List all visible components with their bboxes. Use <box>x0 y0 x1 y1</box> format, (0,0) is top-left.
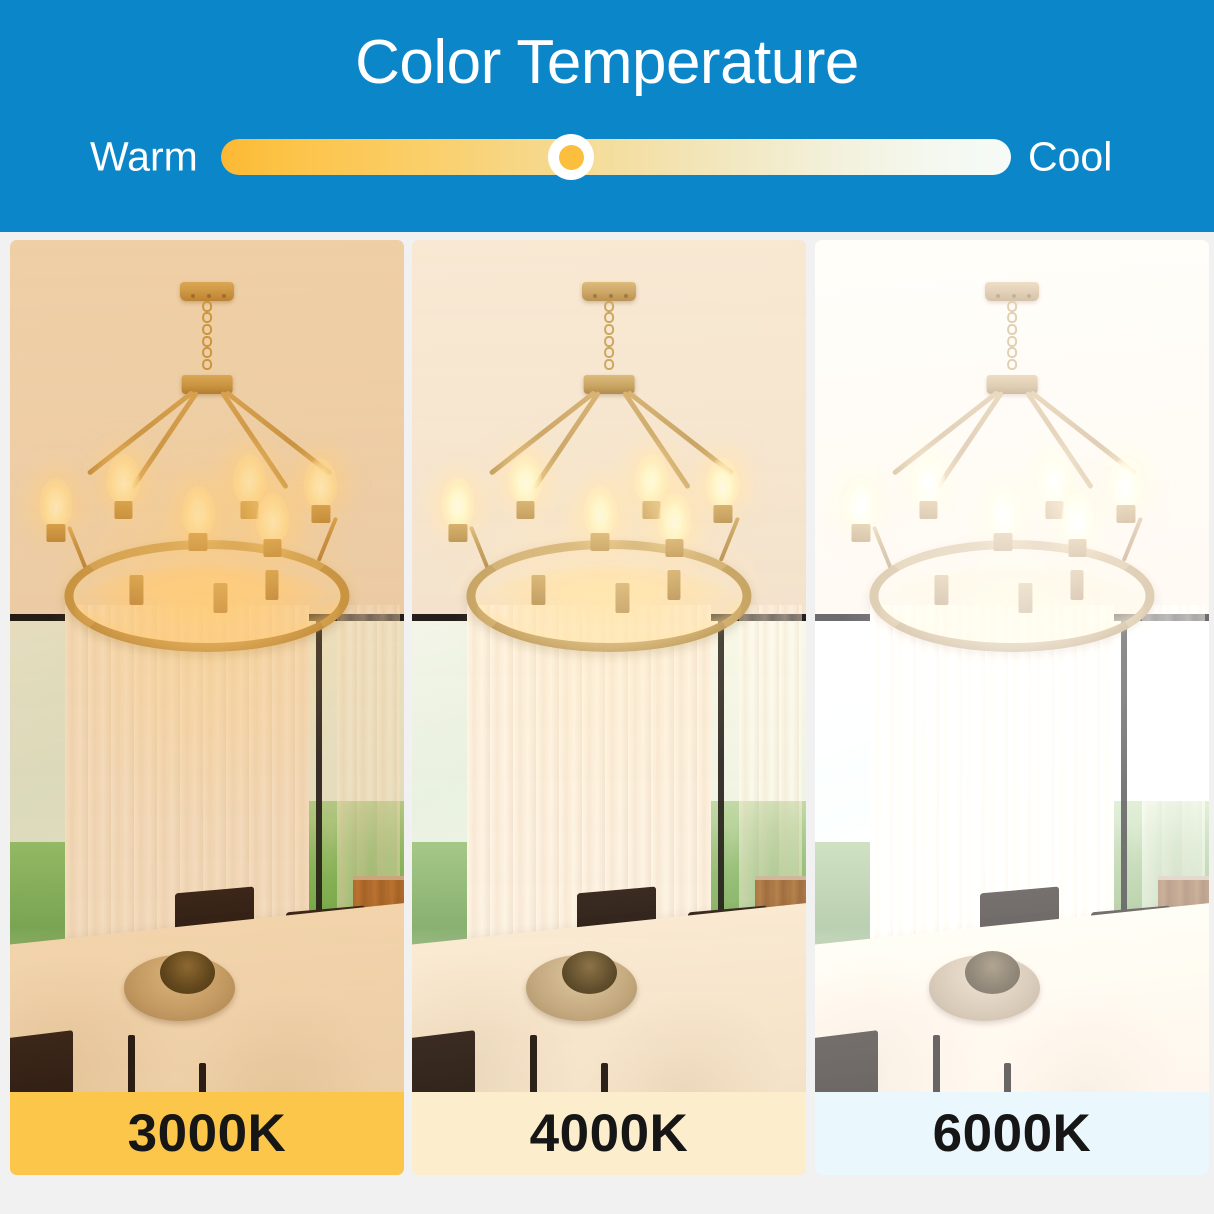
bulb-socket <box>265 570 279 600</box>
chandelier-fixture <box>850 282 1173 712</box>
chandelier-fixture <box>45 282 368 712</box>
bulb-socket <box>1070 570 1084 600</box>
label-6000k: 6000K <box>933 1107 1092 1160</box>
canopy-screw <box>593 294 597 298</box>
suspension-chain <box>1007 301 1016 374</box>
edison-bulb <box>107 454 141 519</box>
ring-glow <box>75 566 340 652</box>
edison-bulb <box>255 493 289 558</box>
bulb-socket <box>213 583 227 613</box>
chandelier-fixture <box>447 282 770 712</box>
chandelier-arm <box>1122 517 1143 562</box>
edison-bulb <box>509 454 543 519</box>
edison-bulb <box>304 458 338 523</box>
chandelier-arm <box>317 517 338 562</box>
chain-link <box>1007 324 1016 335</box>
slider-label-cool: Cool <box>1028 137 1112 178</box>
edison-bulb <box>181 486 215 551</box>
chain-link <box>202 324 211 335</box>
edison-bulb <box>986 486 1020 551</box>
chain-link <box>202 336 211 347</box>
centerpiece-bowl-inner <box>562 951 617 994</box>
room-photo-3000k <box>10 240 404 1175</box>
edison-bulb <box>583 486 617 551</box>
edison-bulb <box>657 493 691 558</box>
ceiling-canopy <box>582 282 637 300</box>
edison-bulb <box>441 478 475 543</box>
header-banner: Color Temperature Warm Cool <box>0 0 1214 232</box>
chain-link <box>1007 301 1016 312</box>
chain-link <box>604 359 613 370</box>
centerpiece-bowl-inner <box>965 951 1020 994</box>
edison-bulb <box>1109 458 1143 523</box>
page-title: Color Temperature <box>0 32 1214 94</box>
slider-handle[interactable] <box>548 134 594 180</box>
chandelier-spoke <box>489 390 597 476</box>
bulb-socket <box>1018 583 1032 613</box>
chain-link <box>1007 359 1016 370</box>
canopy-screw <box>996 294 1000 298</box>
chain-link <box>1007 312 1016 323</box>
canopy-screw <box>222 294 226 298</box>
chain-link <box>604 347 613 358</box>
label-3000k: 3000K <box>128 1107 287 1160</box>
edison-bulb <box>912 454 946 519</box>
panel-6000k[interactable]: 6000K <box>815 240 1209 1175</box>
label-bar-3000k: 3000K <box>10 1092 404 1175</box>
edison-bulb <box>844 478 878 543</box>
canopy-screw <box>207 294 211 298</box>
chain-link <box>604 301 613 312</box>
label-bar-6000k: 6000K <box>815 1092 1209 1175</box>
chain-link <box>202 312 211 323</box>
chain-link <box>604 336 613 347</box>
canopy-screw <box>1027 294 1031 298</box>
chain-link <box>604 324 613 335</box>
chandelier-spoke <box>87 390 195 476</box>
room-photo-6000k <box>815 240 1209 1175</box>
label-bar-4000k: 4000K <box>412 1092 806 1175</box>
canopy-screw <box>191 294 195 298</box>
bulb-socket <box>615 583 629 613</box>
slider-track[interactable] <box>221 139 1011 175</box>
slider-handle-inner <box>559 145 584 170</box>
edison-bulb <box>1060 493 1094 558</box>
chain-link <box>202 301 211 312</box>
slider-label-warm: Warm <box>90 137 198 178</box>
ceiling-canopy <box>985 282 1040 300</box>
bulb-socket <box>129 575 143 605</box>
suspension-chain <box>202 301 211 374</box>
edison-bulb <box>706 458 740 523</box>
chain-link <box>1007 336 1016 347</box>
bulb-socket <box>531 575 545 605</box>
bulb-socket <box>667 570 681 600</box>
panel-3000k[interactable]: 3000K <box>10 240 404 1175</box>
comparison-panels: 3000K <box>0 240 1214 1175</box>
chain-link <box>202 347 211 358</box>
canopy-screw <box>624 294 628 298</box>
label-4000k: 4000K <box>530 1107 689 1160</box>
chain-link <box>1007 347 1016 358</box>
chandelier-spoke <box>892 390 1000 476</box>
edison-bulb <box>39 478 73 543</box>
ceiling-canopy <box>180 282 235 300</box>
chain-link <box>202 359 211 370</box>
chain-link <box>604 312 613 323</box>
room-photo-4000k <box>412 240 806 1175</box>
centerpiece-bowl-inner <box>160 951 215 994</box>
bulb-socket <box>934 575 948 605</box>
ring-glow <box>477 566 742 652</box>
panel-4000k[interactable]: 4000K <box>412 240 806 1175</box>
canopy-screw <box>1012 294 1016 298</box>
chandelier-arm <box>719 517 740 562</box>
suspension-chain <box>604 301 613 374</box>
color-temperature-slider[interactable]: Warm Cool <box>0 126 1214 188</box>
ring-glow <box>880 566 1145 652</box>
canopy-screw <box>609 294 613 298</box>
